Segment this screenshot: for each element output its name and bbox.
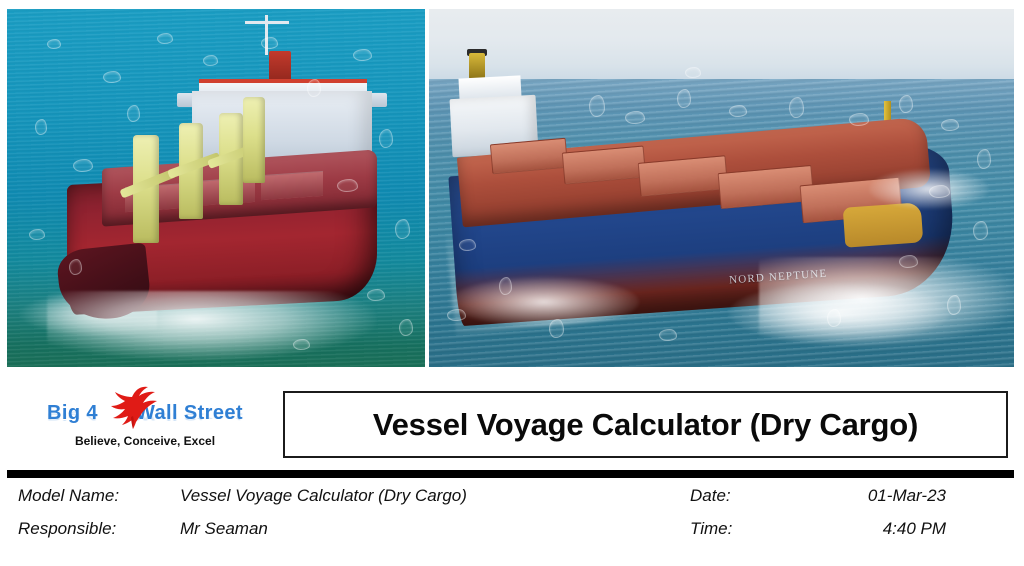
model-name-value: Vessel Voyage Calculator (Dry Cargo): [180, 486, 600, 506]
vessel-photo-right: NORD NEPTUNE: [429, 9, 1014, 367]
mast-yard-left: [245, 21, 289, 24]
foam-patch: [729, 283, 949, 343]
logo-word-first: Big 4: [47, 402, 98, 424]
foam-patch: [869, 169, 989, 209]
funnel-right: [469, 53, 485, 79]
title-box: Vessel Voyage Calculator (Dry Cargo): [283, 391, 1008, 458]
info-row-model: Model Name: Vessel Voyage Calculator (Dr…: [0, 482, 1024, 515]
date-value: 01-Mar-23: [700, 486, 946, 506]
time-value: 4:40 PM: [700, 519, 946, 539]
deck-crane: [243, 97, 265, 183]
hatch-cover: [261, 171, 323, 200]
page-title: Vessel Voyage Calculator (Dry Cargo): [373, 407, 918, 443]
responsible-label: Responsible:: [18, 519, 168, 539]
eagle-icon: [106, 386, 164, 430]
logo-tagline: Believe, Conceive, Excel: [30, 434, 260, 448]
model-name-label: Model Name:: [18, 486, 168, 506]
wake-left: [47, 291, 377, 361]
vessel-photo-left: [7, 9, 425, 367]
company-logo: Big 4Wall Street Big 4Wall Street Believ…: [30, 384, 260, 454]
forecastle-right: [843, 202, 924, 247]
header-row: Big 4Wall Street Big 4Wall Street Believ…: [0, 372, 1024, 464]
responsible-value: Mr Seaman: [180, 519, 600, 539]
foam-patch: [449, 277, 639, 327]
info-grid: Model Name: Vessel Voyage Calculator (Dr…: [0, 482, 1024, 552]
divider-rule: [7, 470, 1014, 478]
photo-banner: NORD NEPTUNE: [7, 9, 1014, 367]
sky-background-right: [429, 9, 1014, 79]
info-row-responsible: Responsible: Mr Seaman Time: 4:40 PM: [0, 515, 1024, 548]
